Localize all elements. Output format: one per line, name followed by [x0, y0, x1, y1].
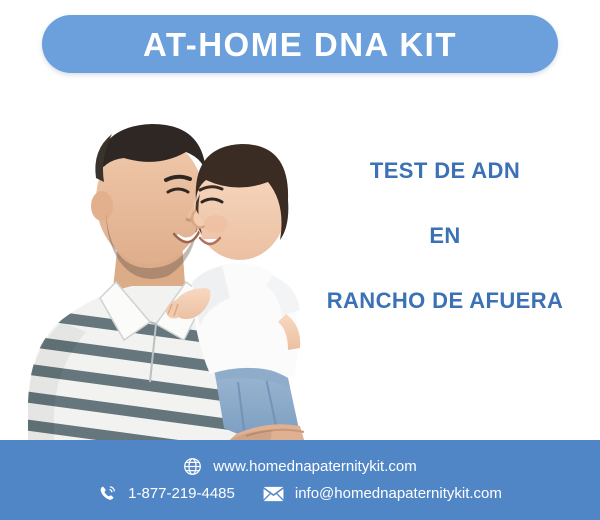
email-contact-item[interactable]: info@homednapaternitykit.com [263, 486, 502, 502]
footer-row-phone-email: 1-877-219-4485 info@homednapaternitykit.… [98, 484, 502, 503]
family-photo-illustration [0, 82, 310, 460]
headline-line-2: EN [300, 225, 590, 247]
family-photo [0, 82, 310, 460]
headline-block: TEST DE ADN EN RANCHO DE AFUERA [300, 160, 590, 312]
header-banner: AT-HOME DNA KIT [42, 15, 558, 73]
website-text: www.homednapaternitykit.com [213, 459, 416, 474]
phone-text: 1-877-219-4485 [128, 486, 235, 501]
email-text: info@homednapaternitykit.com [295, 486, 502, 501]
phone-icon [98, 484, 117, 503]
website-contact-item[interactable]: www.homednapaternitykit.com [183, 457, 416, 476]
phone-contact-item[interactable]: 1-877-219-4485 [98, 484, 235, 503]
headline-line-1: TEST DE ADN [300, 160, 590, 182]
envelope-icon [263, 486, 284, 502]
globe-icon [183, 457, 202, 476]
headline-line-3: RANCHO DE AFUERA [300, 290, 590, 312]
poster-root: AT-HOME DNA KIT [0, 0, 600, 520]
page-title: AT-HOME DNA KIT [143, 28, 457, 61]
footer-row-website: www.homednapaternitykit.com [183, 457, 416, 476]
contact-footer: www.homednapaternitykit.com 1-877-219-44… [0, 440, 600, 520]
